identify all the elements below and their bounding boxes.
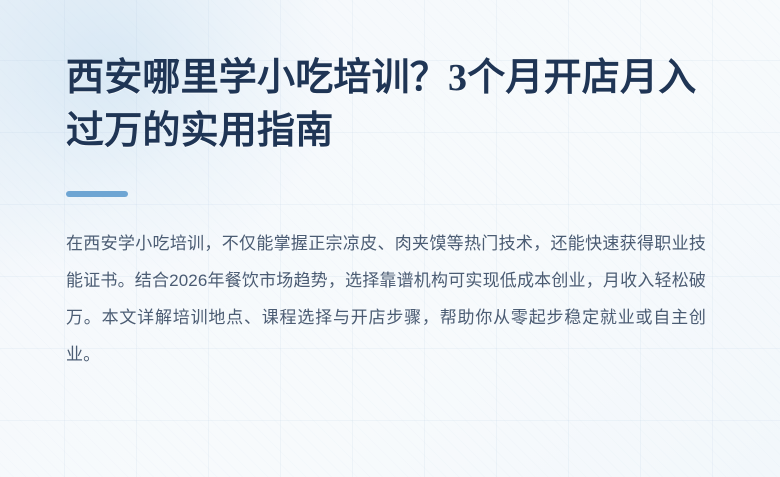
article-summary: 在西安学小吃培训，不仅能掌握正宗凉皮、肉夹馍等热门技术，还能快速获得职业技能证书… (66, 225, 706, 373)
title-accent-divider (66, 191, 128, 197)
article-hero-card: 西安哪里学小吃培训？3个月开店月入过万的实用指南 在西安学小吃培训，不仅能掌握正… (0, 0, 780, 477)
article-content: 西安哪里学小吃培训？3个月开店月入过万的实用指南 在西安学小吃培训，不仅能掌握正… (0, 0, 780, 373)
page-title: 西安哪里学小吃培训？3个月开店月入过万的实用指南 (66, 52, 724, 158)
